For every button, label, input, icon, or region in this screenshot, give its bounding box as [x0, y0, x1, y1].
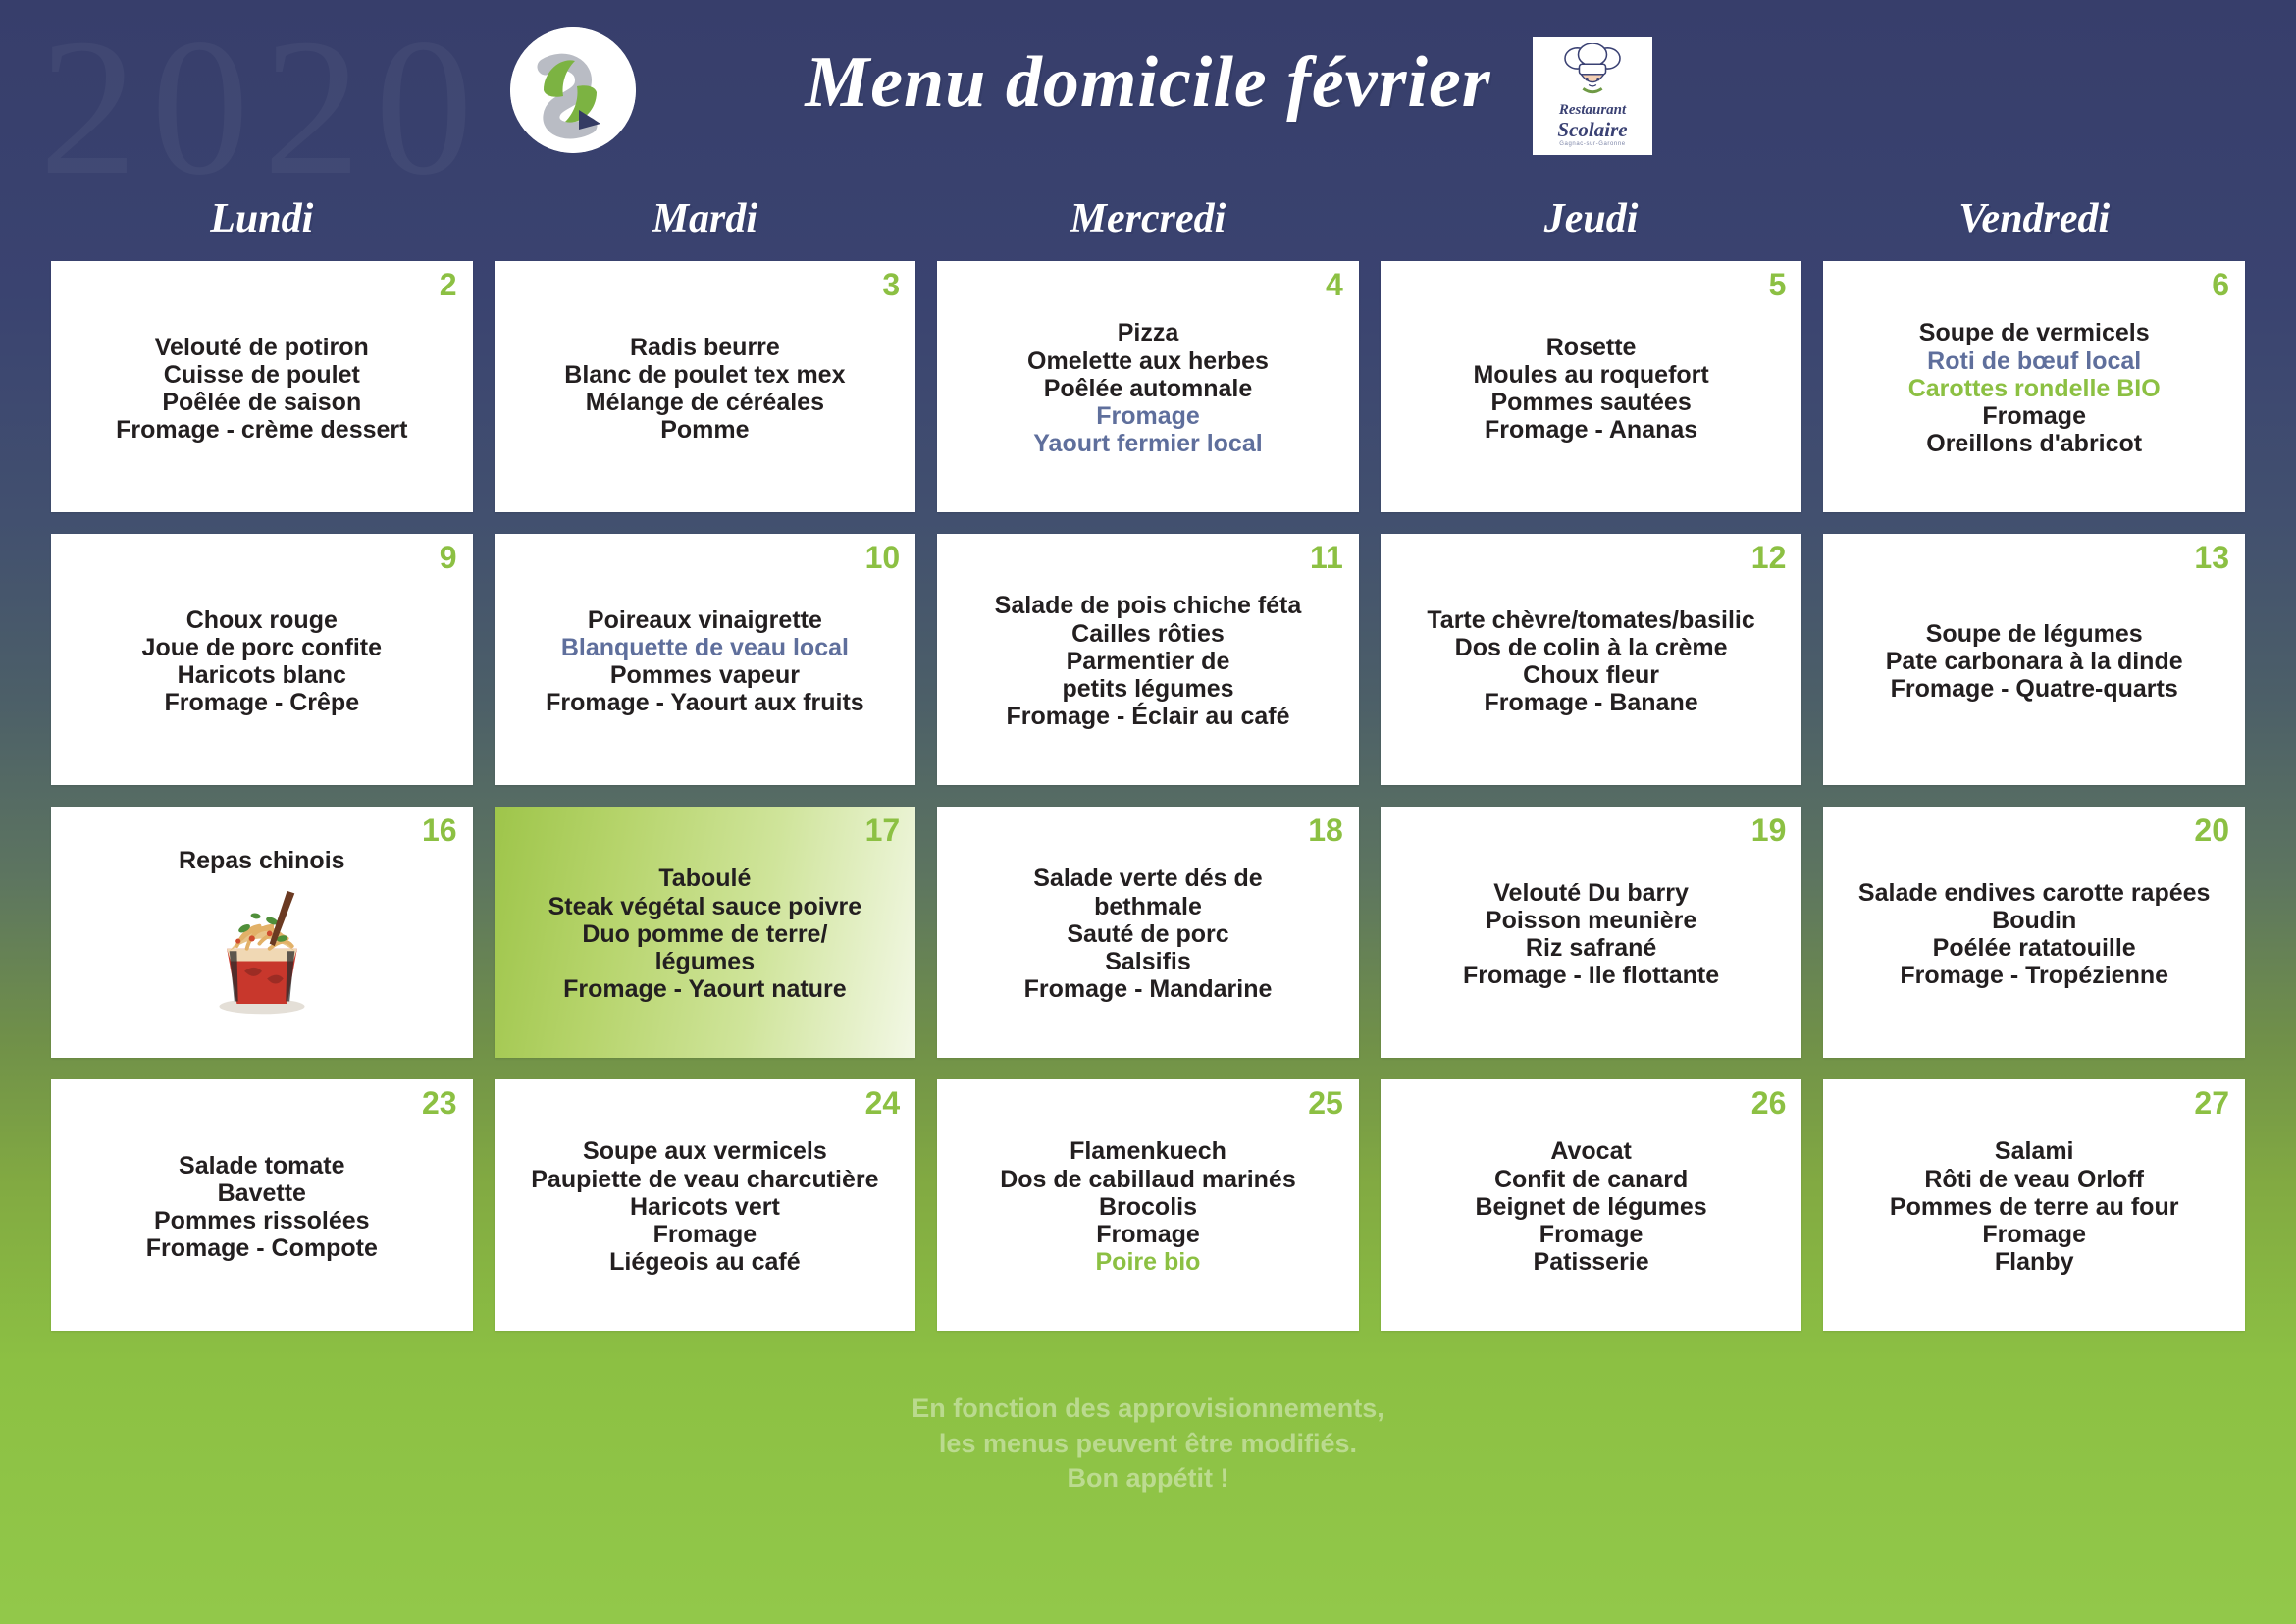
dish-line: Fromage — [1982, 402, 2086, 430]
school-logo: Restaurant Scolaire Gagnac-sur-Garonne — [1533, 37, 1652, 155]
dish-line: Fromage - Yaourt aux fruits — [546, 689, 864, 716]
dish-list: TabouléSteak végétal sauce poivreDuo pom… — [504, 864, 907, 1003]
dish-line: Brocolis — [1099, 1193, 1197, 1221]
dish-line: Salade tomate — [179, 1152, 345, 1179]
menu-day-cell: 19Velouté Du barryPoisson meunièreRiz sa… — [1381, 807, 1802, 1058]
dish-line: Sauté de porc — [1067, 920, 1228, 948]
day-number: 3 — [882, 269, 900, 300]
footer-line-1: En fonction des approvisionnements, — [0, 1391, 2296, 1427]
dish-line: Salsifis — [1105, 948, 1191, 975]
menu-day-cell: 26AvocatConfit de canardBeignet de légum… — [1381, 1079, 1802, 1331]
dish-list: Salade endives carotte rapéesBoudinPoélé… — [1833, 879, 2235, 990]
menu-day-cell: 18Salade verte dés debethmaleSauté de po… — [937, 807, 1359, 1058]
dish-line: Confit de canard — [1494, 1166, 1688, 1193]
dish-line: légumes — [655, 948, 755, 975]
dish-line: Parmentier de — [1067, 648, 1230, 675]
school-logo-line1: Restaurant — [1559, 103, 1626, 119]
page-header: Menu domicile février Restaurant Scolair… — [0, 0, 2296, 186]
dish-line: Radis beurre — [630, 334, 780, 361]
dish-line: Fromage - Éclair au café — [1006, 703, 1289, 730]
weekday-label-lundi: Lundi — [51, 188, 473, 249]
day-number: 18 — [1308, 814, 1343, 846]
footer-line-2: les menus peuvent être modifiés. — [0, 1427, 2296, 1462]
dish-line: bethmale — [1094, 893, 1202, 920]
day-number: 9 — [440, 542, 457, 573]
day-number: 20 — [2194, 814, 2229, 846]
menu-day-cell: 3Radis beurreBlanc de poulet tex mexMéla… — [495, 261, 916, 512]
dish-line: Fromage - Banane — [1485, 689, 1698, 716]
school-logo-line2: Scolaire — [1557, 119, 1627, 140]
dish-line: Yaourt fermier local — [1033, 430, 1262, 457]
page-title: Menu domicile février — [0, 41, 2296, 125]
day-number: 11 — [1310, 542, 1343, 573]
dish-line: Fromage - Ananas — [1485, 416, 1697, 444]
dish-list: Soupe aux vermicelsPaupiette de veau cha… — [504, 1137, 907, 1276]
footer-line-3: Bon appétit ! — [0, 1461, 2296, 1496]
day-number: 6 — [2212, 269, 2229, 300]
dish-line: Salami — [1995, 1137, 2074, 1165]
dish-line: Riz safrané — [1526, 934, 1656, 962]
menu-day-cell: 17TabouléSteak végétal sauce poivreDuo p… — [495, 807, 916, 1058]
dish-line: Haricots vert — [630, 1193, 780, 1221]
day-number: 12 — [1751, 542, 1787, 573]
menu-day-cell: 10Poireaux vinaigretteBlanquette de veau… — [495, 534, 916, 785]
dish-line: Haricots blanc — [178, 661, 346, 689]
dish-line: Mélange de céréales — [586, 389, 824, 416]
dish-list: Radis beurreBlanc de poulet tex mexMélan… — [504, 334, 907, 445]
dish-list: Soupe de vermicelsRoti de bœuf localCaro… — [1833, 319, 2235, 457]
dish-line: Poêlée automnale — [1044, 375, 1253, 402]
dish-line: Fromage - Tropézienne — [1900, 962, 2168, 989]
dish-line: Choux rouge — [186, 606, 338, 634]
menu-day-cell: 2Velouté de potironCuisse de pouletPoêlé… — [51, 261, 473, 512]
day-number: 23 — [422, 1087, 457, 1119]
dish-line: Choux fleur — [1523, 661, 1659, 689]
dish-line: Steak végétal sauce poivre — [548, 893, 862, 920]
menu-day-cell: 20Salade endives carotte rapéesBoudinPoé… — [1823, 807, 2245, 1058]
dish-line: Bavette — [218, 1179, 306, 1207]
dish-line: Fromage - Quatre-quarts — [1891, 675, 2178, 703]
dish-line: Salade verte dés de — [1033, 864, 1262, 892]
dish-line: Avocat — [1550, 1137, 1631, 1165]
day-number: 19 — [1751, 814, 1787, 846]
dish-line: Fromage - Ile flottante — [1463, 962, 1719, 989]
day-number: 25 — [1308, 1087, 1343, 1119]
dish-list: Tarte chèvre/tomates/basilicDos de colin… — [1390, 606, 1793, 717]
day-number: 27 — [2194, 1087, 2229, 1119]
dish-list: Choux rougeJoue de porc confiteHaricots … — [61, 606, 463, 717]
dish-line: Pomme — [660, 416, 749, 444]
weekday-label-jeudi: Jeudi — [1381, 188, 1802, 249]
dish-line: Pommes sautées — [1490, 389, 1691, 416]
dish-line: Soupe de légumes — [1926, 620, 2143, 648]
day-number: 2 — [440, 269, 457, 300]
dish-line: Liégeois au café — [609, 1248, 801, 1276]
weekday-label-mardi: Mardi — [495, 188, 916, 249]
dish-line: Poisson meunière — [1486, 907, 1696, 934]
dish-line: Carottes rondelle BIO — [1908, 375, 2161, 402]
school-logo-subtitle: Gagnac-sur-Garonne — [1559, 141, 1626, 147]
dish-list: Velouté Du barryPoisson meunièreRiz safr… — [1390, 879, 1793, 990]
dish-line: Pizza — [1118, 319, 1179, 346]
dish-line: Poireaux vinaigrette — [588, 606, 822, 634]
dish-line: Fromage - Compote — [146, 1234, 378, 1262]
dish-list: Soupe de légumesPate carbonara à la dind… — [1833, 620, 2235, 704]
dish-line: Joue de porc confite — [142, 634, 382, 661]
weekday-label-vendredi: Vendredi — [1823, 188, 2245, 249]
menu-day-cell: 6Soupe de vermicelsRoti de bœuf localCar… — [1823, 261, 2245, 512]
dish-line: Fromage - crème dessert — [116, 416, 407, 444]
dish-line: Patisserie — [1534, 1248, 1649, 1276]
dish-line: Moules au roquefort — [1473, 361, 1708, 389]
dish-line: Blanquette de veau local — [561, 634, 849, 661]
menu-calendar-grid: 2Velouté de potironCuisse de pouletPoêlé… — [51, 261, 2245, 1331]
weekday-label-mercredi: Mercredi — [937, 188, 1359, 249]
menu-day-cell: 13Soupe de légumesPate carbonara à la di… — [1823, 534, 2245, 785]
dish-line: Roti de bœuf local — [1927, 347, 2141, 375]
dish-line: Tarte chèvre/tomates/basilic — [1427, 606, 1754, 634]
dish-line: Duo pomme de terre/ — [582, 920, 827, 948]
dish-line: Velouté Du barry — [1493, 879, 1689, 907]
dish-line: Omelette aux herbes — [1027, 347, 1269, 375]
dish-line: Pommes vapeur — [610, 661, 800, 689]
dish-line: Pate carbonara à la dinde — [1886, 648, 2183, 675]
menu-day-cell: 25FlamenkuechDos de cabillaud marinésBro… — [937, 1079, 1359, 1331]
dish-line: Blanc de poulet tex mex — [564, 361, 845, 389]
weekday-header-row: Lundi Mardi Mercredi Jeudi Vendredi — [51, 188, 2245, 249]
dish-line: Poélée ratatouille — [1933, 934, 2136, 962]
dish-line: Salade de pois chiche féta — [995, 592, 1302, 619]
dish-line: Fromage - Mandarine — [1024, 975, 1273, 1003]
dish-line: Fromage — [653, 1221, 757, 1248]
menu-day-cell: 24Soupe aux vermicelsPaupiette de veau c… — [495, 1079, 916, 1331]
dish-line: Fromage - Yaourt nature — [563, 975, 847, 1003]
menu-day-cell: 23Salade tomateBavettePommes rissoléesFr… — [51, 1079, 473, 1331]
dish-line: Fromage — [1096, 1221, 1200, 1248]
day-number: 13 — [2194, 542, 2229, 573]
dish-line: Beignet de légumes — [1476, 1193, 1707, 1221]
dish-list: RosetteMoules au roquefortPommes sautées… — [1390, 334, 1793, 445]
dish-list: Salade de pois chiche fétaCailles rôties… — [947, 592, 1349, 730]
dish-line: Flanby — [1995, 1248, 2074, 1276]
dish-line: Soupe de vermicels — [1919, 319, 2150, 346]
dish-line: Pommes de terre au four — [1890, 1193, 2179, 1221]
day-number: 26 — [1751, 1087, 1787, 1119]
day-number: 16 — [422, 814, 457, 846]
dish-line: Fromage - Crêpe — [164, 689, 359, 716]
menu-day-cell: 11Salade de pois chiche fétaCailles rôti… — [937, 534, 1359, 785]
dish-list: FlamenkuechDos de cabillaud marinésBroco… — [947, 1137, 1349, 1276]
dish-list: Repas chinois — [61, 847, 463, 874]
dish-list: Poireaux vinaigretteBlanquette de veau l… — [504, 606, 907, 717]
dish-list: Salade verte dés debethmaleSauté de porc… — [947, 864, 1349, 1003]
dish-line: Dos de cabillaud marinés — [1000, 1166, 1296, 1193]
dish-line: Fromage — [1982, 1221, 2086, 1248]
dish-line: Oreillons d'abricot — [1926, 430, 2142, 457]
menu-day-cell: 5RosetteMoules au roquefortPommes sautée… — [1381, 261, 1802, 512]
dish-line: Boudin — [1992, 907, 2076, 934]
dish-line: Dos de colin à la crème — [1455, 634, 1728, 661]
footer-note: En fonction des approvisionnements, les … — [0, 1391, 2296, 1496]
dish-list: PizzaOmelette aux herbesPoêlée automnale… — [947, 319, 1349, 457]
menu-day-cell: 9Choux rougeJoue de porc confiteHaricots… — [51, 534, 473, 785]
dish-line: Poire bio — [1096, 1248, 1201, 1276]
dish-line: Fromage — [1096, 402, 1200, 430]
dish-line: Cailles rôties — [1071, 620, 1225, 648]
dish-line: Repas chinois — [179, 847, 345, 874]
menu-day-cell: 16Repas chinois — [51, 807, 473, 1058]
dish-line: Rôti de veau Orloff — [1924, 1166, 2144, 1193]
dish-list: AvocatConfit de canardBeignet de légumes… — [1390, 1137, 1793, 1276]
dish-line: Fromage — [1539, 1221, 1644, 1248]
dish-line: Paupiette de veau charcutière — [531, 1166, 878, 1193]
dish-line: Cuisse de poulet — [164, 361, 360, 389]
dish-list: Velouté de potironCuisse de pouletPoêlée… — [61, 334, 463, 445]
menu-day-cell: 12Tarte chèvre/tomates/basilicDos de col… — [1381, 534, 1802, 785]
day-number: 10 — [865, 542, 901, 573]
chinese-takeout-box-icon — [199, 875, 325, 1022]
day-number: 5 — [1769, 269, 1787, 300]
dish-list: SalamiRôti de veau OrloffPommes de terre… — [1833, 1137, 2235, 1276]
chef-hat-character-icon — [1554, 43, 1631, 103]
menu-day-cell: 4PizzaOmelette aux herbesPoêlée automnal… — [937, 261, 1359, 512]
dish-line: Rosette — [1546, 334, 1637, 361]
dish-line: Velouté de potiron — [155, 334, 369, 361]
dish-line: Soupe aux vermicels — [583, 1137, 827, 1165]
dish-list: Salade tomateBavettePommes rissoléesFrom… — [61, 1152, 463, 1263]
dish-line: Pommes rissolées — [154, 1207, 370, 1234]
dish-line: petits légumes — [1062, 675, 1233, 703]
day-number: 17 — [865, 814, 901, 846]
menu-day-cell: 27SalamiRôti de veau OrloffPommes de ter… — [1823, 1079, 2245, 1331]
dish-line: Salade endives carotte rapées — [1858, 879, 2211, 907]
dish-line: Flamenkuech — [1070, 1137, 1226, 1165]
dish-line: Taboulé — [658, 864, 751, 892]
day-number: 24 — [865, 1087, 901, 1119]
day-number: 4 — [1326, 269, 1343, 300]
dish-line: Poêlée de saison — [162, 389, 361, 416]
